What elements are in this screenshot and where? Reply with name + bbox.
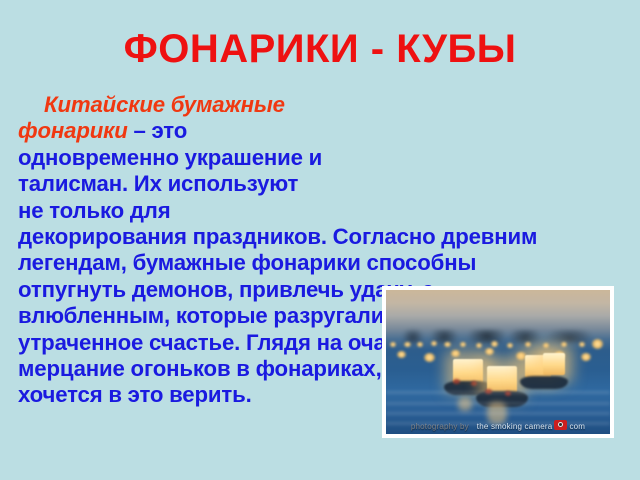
lantern-photo-frame: photography bythe smoking cameracom — [382, 286, 614, 438]
foreground-lanterns — [386, 290, 610, 434]
watermark-faint-text: photography by — [411, 422, 469, 431]
watermark-text-right: com — [569, 422, 585, 431]
page-title: ФОНАРИКИ - КУБЫ — [0, 26, 640, 72]
camera-icon — [554, 420, 567, 430]
photo-text-wrap-spacer — [324, 92, 572, 212]
lantern-photo: photography bythe smoking cameracom — [386, 290, 610, 434]
watermark-text-left: the smoking camera — [477, 422, 553, 431]
photo-watermark: photography bythe smoking cameracom — [386, 420, 610, 431]
slide: ФОНАРИКИ - КУБЫ Китайские бумажные фонар… — [0, 0, 640, 480]
